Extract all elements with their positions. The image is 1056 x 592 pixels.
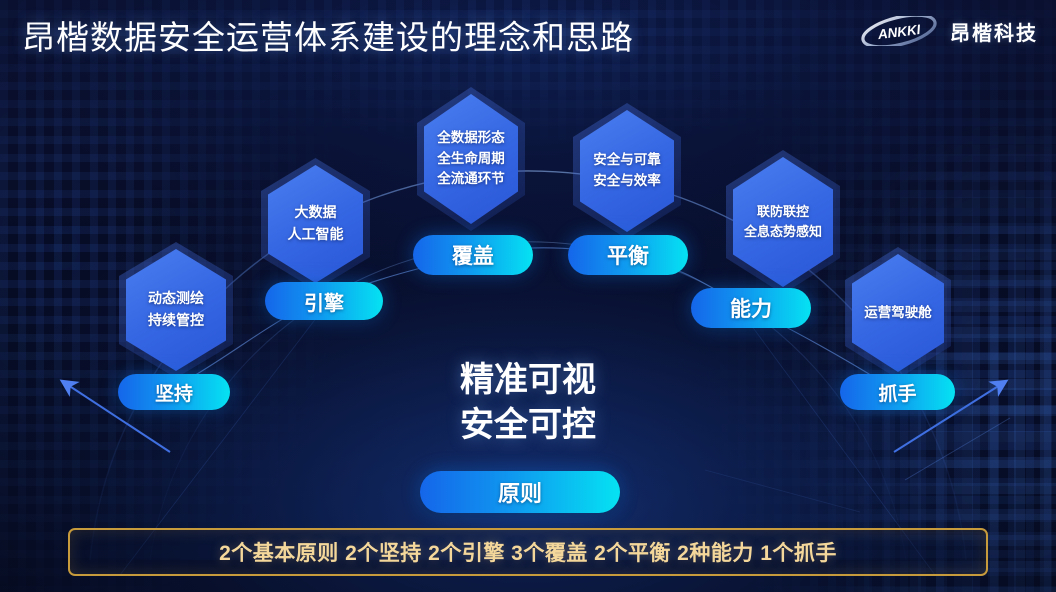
hexagon-line: 全数据形态 — [437, 128, 505, 149]
center-statement: 精准可视 安全可控 — [0, 358, 1056, 448]
pill-label: 平衡 — [607, 240, 649, 270]
hexagon-ops-cockpit[interactable]: 运营驾驶舱 — [852, 254, 944, 372]
hexagon-line: 全息态势感知 — [744, 222, 822, 242]
hexagon-line: 大数据 — [295, 202, 337, 224]
pill-balance[interactable]: 平衡 — [568, 235, 688, 275]
pill-label: 覆盖 — [452, 240, 494, 270]
hexagon-big-data-ai[interactable]: 大数据 人工智能 — [268, 165, 363, 283]
ankki-logo-icon: ANKKI — [860, 16, 938, 46]
pill-label: 引擎 — [304, 287, 344, 316]
hexagon-line: 联防联控 — [757, 202, 809, 222]
brand-name: 昂楷科技 — [950, 17, 1038, 46]
hexagon-line: 全流通环节 — [437, 169, 505, 190]
center-statement-line2: 安全可控 — [0, 403, 1056, 448]
summary-banner-text: 2个基本原则 2个坚持 2个引擎 3个覆盖 2个平衡 2种能力 1个抓手 — [219, 537, 837, 567]
brand-logo: ANKKI 昂楷科技 — [860, 16, 1038, 46]
hexagon-joint-defense[interactable]: 联防联控 全息态势感知 — [733, 157, 833, 287]
page-title: 昂楷数据安全运营体系建设的理念和思路 — [22, 11, 634, 59]
hexagon-line: 运营驾驶舱 — [864, 303, 932, 324]
pill-engine[interactable]: 引擎 — [265, 282, 383, 320]
hexagon-security-balance[interactable]: 安全与可靠 安全与效率 — [580, 110, 674, 232]
hexagon-line: 安全与可靠 — [593, 150, 661, 171]
pill-principle[interactable]: 原则 — [420, 471, 620, 513]
hexagon-line: 安全与效率 — [593, 171, 661, 192]
pill-coverage[interactable]: 覆盖 — [413, 235, 533, 275]
hexagon-dynamic-mapping[interactable]: 动态测绘 持续管控 — [126, 249, 226, 371]
summary-banner: 2个基本原则 2个坚持 2个引擎 3个覆盖 2个平衡 2种能力 1个抓手 — [68, 528, 988, 576]
pill-label: 原则 — [498, 476, 542, 508]
hexagon-line: 动态测绘 — [148, 288, 204, 310]
slide-root: 昂楷数据安全运营体系建设的理念和思路 ANKKI 昂楷科技 — [0, 0, 1056, 592]
hexagon-full-coverage[interactable]: 全数据形态 全生命周期 全流通环节 — [424, 94, 518, 224]
pill-label: 能力 — [730, 293, 772, 323]
center-statement-line1: 精准可视 — [0, 358, 1056, 403]
header: 昂楷数据安全运营体系建设的理念和思路 ANKKI 昂楷科技 — [0, 0, 1056, 64]
hexagon-line: 持续管控 — [148, 310, 204, 332]
hexagon-line: 全生命周期 — [437, 149, 505, 170]
hexagon-line: 人工智能 — [288, 224, 344, 246]
pill-capability[interactable]: 能力 — [691, 288, 811, 328]
